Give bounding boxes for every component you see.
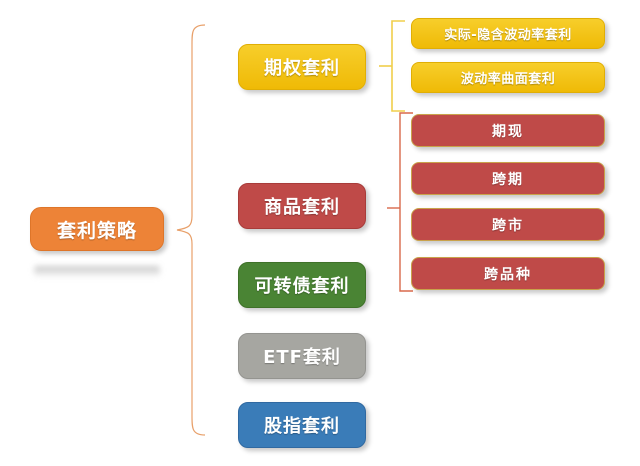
leaf-node-cross-market[interactable]: 跨市 [411,208,605,241]
commodity-bracket-connector [386,112,414,292]
diagram-canvas: 套利策略 期权套利 商品套利 可转债套利 ETF套利 股指套利 实际-隐含波动率… [0,0,640,466]
root-reflection [34,266,160,277]
root-node-arbitrage-strategy[interactable]: 套利策略 [30,207,164,251]
branch-node-commodity-arbitrage[interactable]: 商品套利 [238,183,366,229]
leaf-node-cross-commodity[interactable]: 跨品种 [411,257,605,290]
option-bracket-connector [378,20,406,112]
branch-node-etf-arbitrage[interactable]: ETF套利 [238,333,366,379]
leaf-node-spot-futures[interactable]: 期现 [411,114,605,147]
leaf-node-calendar-spread[interactable]: 跨期 [411,162,605,195]
branch-node-option-arbitrage[interactable]: 期权套利 [238,44,366,90]
branch-node-index-futures-arbitrage[interactable]: 股指套利 [238,402,366,448]
branch-node-convertible-bond-arbitrage[interactable]: 可转债套利 [238,262,366,308]
main-brace-connector [176,24,206,436]
leaf-node-realized-implied-vol-arbitrage[interactable]: 实际-隐含波动率套利 [411,18,605,49]
leaf-node-vol-surface-arbitrage[interactable]: 波动率曲面套利 [411,62,605,93]
